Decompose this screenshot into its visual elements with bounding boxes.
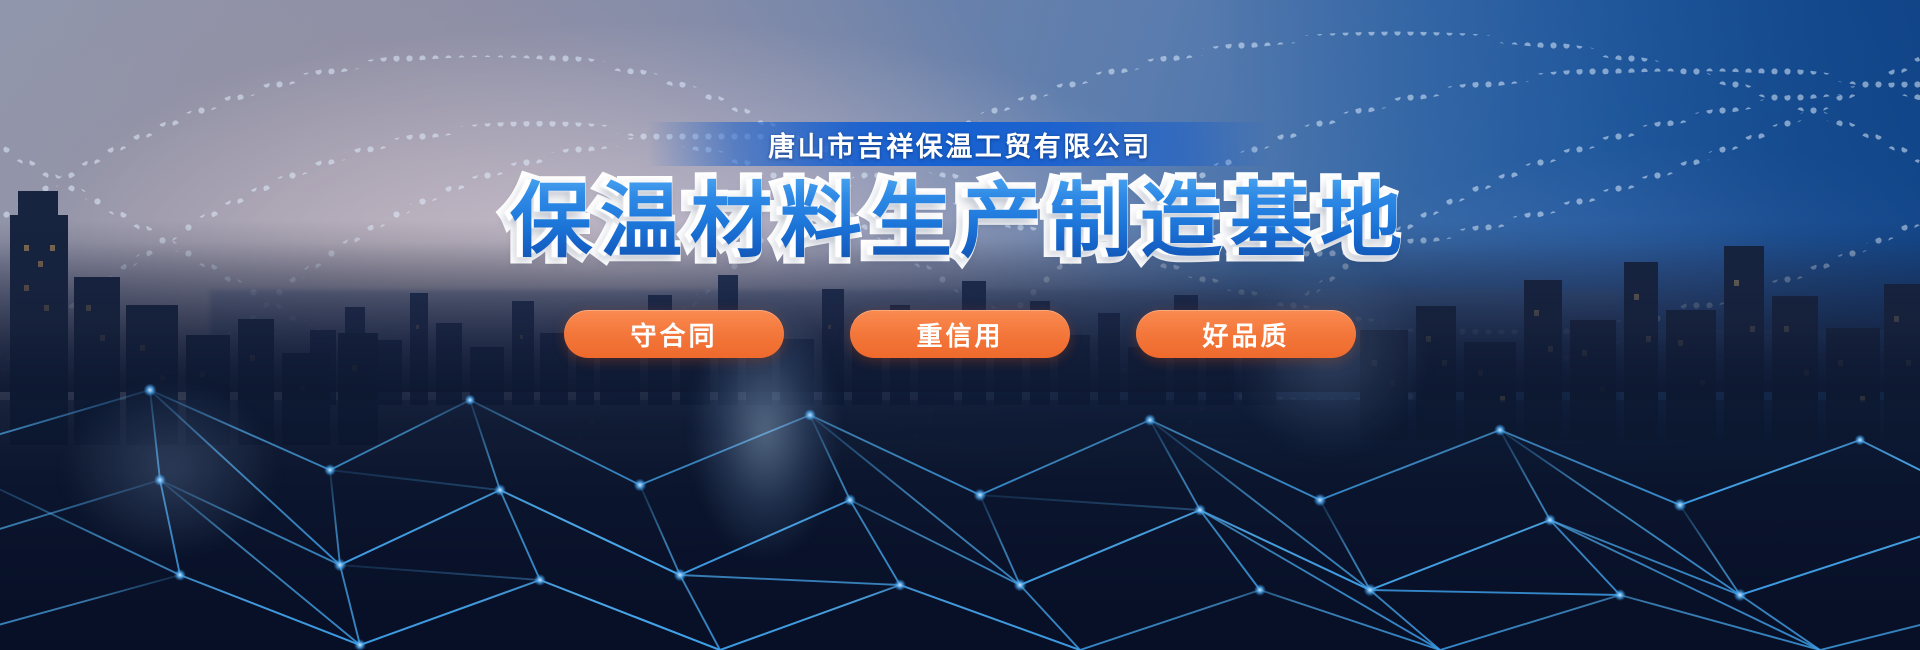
tag-zhong-xin-yong[interactable]: 重信用 bbox=[850, 310, 1070, 358]
hero-banner: 唐山市吉祥保温工贸有限公司 保温材料生产制造基地 保温材料生产制造基地 守合同 … bbox=[0, 0, 1920, 650]
company-name-bar: 唐山市吉祥保温工贸有限公司 bbox=[647, 122, 1273, 166]
feature-tag-list: 守合同 重信用 好品质 bbox=[0, 310, 1920, 358]
headline-fill-layer: 保温材料生产制造基地 bbox=[510, 176, 1410, 267]
headline-wrapper: 保温材料生产制造基地 保温材料生产制造基地 bbox=[0, 175, 1920, 269]
tag-hao-pin-zhi[interactable]: 好品质 bbox=[1136, 310, 1356, 358]
banner-content: 唐山市吉祥保温工贸有限公司 保温材料生产制造基地 保温材料生产制造基地 守合同 … bbox=[0, 0, 1920, 650]
page-title: 保温材料生产制造基地 保温材料生产制造基地 bbox=[504, 175, 1416, 269]
company-name: 唐山市吉祥保温工贸有限公司 bbox=[768, 125, 1152, 164]
tag-shou-he-tong[interactable]: 守合同 bbox=[564, 310, 784, 358]
